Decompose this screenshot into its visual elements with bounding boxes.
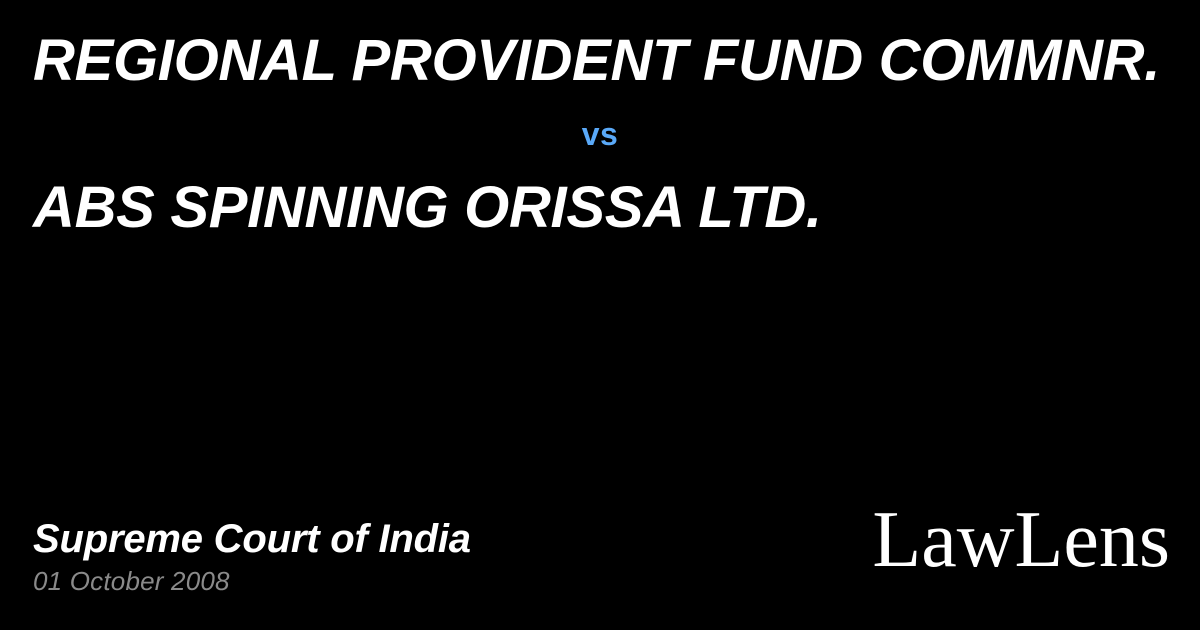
court-name: Supreme Court of India: [33, 516, 471, 562]
footer-metadata: Supreme Court of India 01 October 2008: [33, 516, 471, 596]
card-footer: Supreme Court of India 01 October 2008 L…: [0, 480, 1200, 630]
respondent-name: ABS SPINNING ORISSA LTD.: [33, 173, 822, 243]
petitioner-name: REGIONAL PROVIDENT FUND COMMNR.: [33, 26, 1160, 96]
case-card: REGIONAL PROVIDENT FUND COMMNR. vs ABS S…: [0, 0, 1200, 630]
versus-separator: vs: [0, 114, 1200, 154]
lawlens-logo: LawLens: [872, 500, 1170, 580]
judgment-date: 01 October 2008: [33, 566, 471, 596]
